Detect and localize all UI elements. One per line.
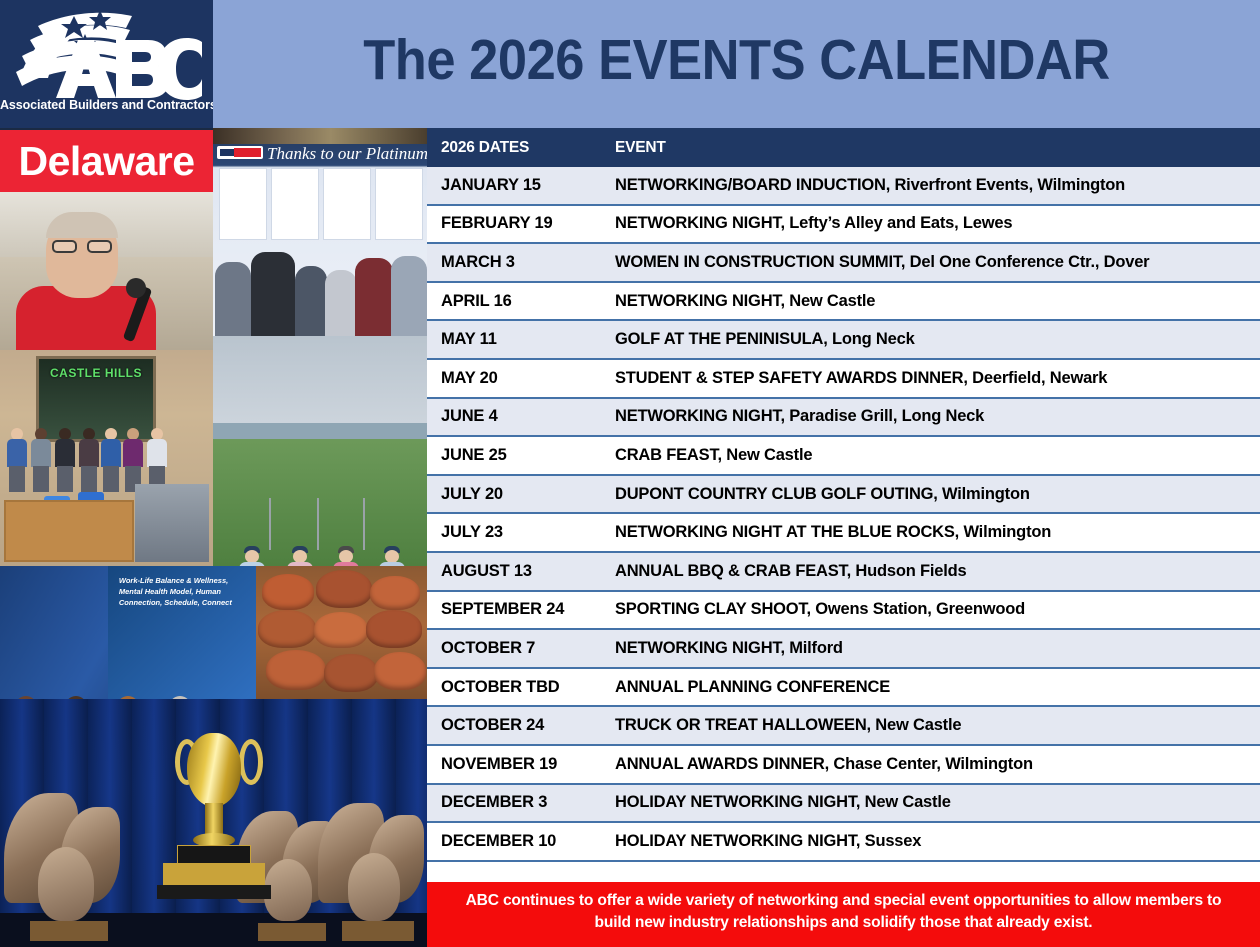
women-panel-photo: Work-Life Balance & Wellness, Mental Hea…: [0, 566, 256, 699]
event-description: CRAB FEAST, New Castle: [615, 446, 1260, 465]
abc-delaware-chip-icon: [217, 146, 263, 159]
event-date: NOVEMBER 19: [441, 755, 615, 774]
sponsor-banner-caption: Thanks to our Platinum Sponsors: [267, 144, 427, 164]
crab-icon: [266, 650, 326, 690]
table-header-row: 2026 DATES EVENT: [427, 128, 1260, 167]
sponsor-card: [271, 168, 319, 240]
event-date: SEPTEMBER 24: [441, 600, 615, 619]
crab-icon: [324, 654, 378, 692]
footer-message-banner: ABC continues to offer a wide variety of…: [427, 882, 1260, 947]
table-row[interactable]: SEPTEMBER 24SPORTING CLAY SHOOT, Owens S…: [427, 592, 1260, 631]
table-row[interactable]: JUNE 4NETWORKING NIGHT, Paradise Grill, …: [427, 399, 1260, 438]
event-description: HOLIDAY NETWORKING NIGHT, New Castle: [615, 793, 1260, 812]
abc-logo-tagline: Associated Builders and Contractors: [0, 98, 213, 112]
event-date: DECEMBER 3: [441, 793, 615, 812]
event-description: DUPONT COUNTRY CLUB GOLF OUTING, Wilming…: [615, 485, 1260, 504]
table-row[interactable]: OCTOBER 7NETWORKING NIGHT, Milford: [427, 630, 1260, 669]
table-row[interactable]: MAY 11GOLF AT THE PENINISULA, Long Neck: [427, 321, 1260, 360]
page-title: The 2026 EVENTS CALENDAR: [255, 0, 1218, 128]
sponsor-card: [323, 168, 371, 240]
event-date: MAY 20: [441, 369, 615, 388]
event-date: AUGUST 13: [441, 562, 615, 581]
table-row[interactable]: OCTOBER TBDANNUAL PLANNING CONFERENCE: [427, 669, 1260, 708]
abc-logo: Associated Builders and Contractors ®: [0, 0, 213, 128]
event-description: SPORTING CLAY SHOOT, Owens Station, Gree…: [615, 600, 1260, 619]
event-description: GOLF AT THE PENINISULA, Long Neck: [615, 330, 1260, 349]
event-description: NETWORKING NIGHT, New Castle: [615, 292, 1260, 311]
abc-logo-mark: [8, 6, 206, 102]
crab-feast-photo: [256, 566, 427, 699]
person-figure: [251, 252, 295, 336]
person-figure: [355, 258, 393, 336]
table-row[interactable]: DECEMBER 3HOLIDAY NETWORKING NIGHT, New …: [427, 785, 1260, 824]
supply-cart: [135, 484, 209, 562]
event-date: APRIL 16: [441, 292, 615, 311]
event-date: OCTOBER TBD: [441, 678, 615, 697]
sponsor-logo-row: [213, 168, 427, 240]
event-date: JULY 23: [441, 523, 615, 542]
event-date: FEBRUARY 19: [441, 214, 615, 233]
event-date: JANUARY 15: [441, 176, 615, 195]
awards-trophy-photo: [0, 699, 427, 947]
table-row[interactable]: APRIL 16NETWORKING NIGHT, New Castle: [427, 283, 1260, 322]
golf-club-icon: [363, 498, 365, 550]
event-description: NETWORKING NIGHT AT THE BLUE ROCKS, Wilm…: [615, 523, 1260, 542]
table-row[interactable]: MARCH 3WOMEN IN CONSTRUCTION SUMMIT, Del…: [427, 244, 1260, 283]
crab-icon: [314, 612, 368, 648]
golf-club-icon: [269, 498, 271, 550]
table-row[interactable]: JUNE 25CRAB FEAST, New Castle: [427, 437, 1260, 476]
crab-icon: [366, 610, 422, 648]
event-date: JUNE 4: [441, 407, 615, 426]
event-date: JUNE 25: [441, 446, 615, 465]
event-date: DECEMBER 10: [441, 832, 615, 851]
table-row[interactable]: AUGUST 13ANNUAL BBQ & CRAB FEAST, Hudson…: [427, 553, 1260, 592]
table-row[interactable]: MAY 20STUDENT & STEP SAFETY AWARDS DINNE…: [427, 360, 1260, 399]
event-description: WOMEN IN CONSTRUCTION SUMMIT, Del One Co…: [615, 253, 1260, 272]
event-description: STUDENT & STEP SAFETY AWARDS DINNER, Dee…: [615, 369, 1260, 388]
event-description: ANNUAL BBQ & CRAB FEAST, Hudson Fields: [615, 562, 1260, 581]
event-description: ANNUAL AWARDS DINNER, Chase Center, Wilm…: [615, 755, 1260, 774]
event-description: HOLIDAY NETWORKING NIGHT, Sussex: [615, 832, 1260, 851]
table-row[interactable]: DECEMBER 10HOLIDAY NETWORKING NIGHT, Sus…: [427, 823, 1260, 862]
person-figure: [215, 262, 251, 336]
sponsor-group-people: [213, 236, 427, 336]
event-description: NETWORKING NIGHT, Paradise Grill, Long N…: [615, 407, 1260, 426]
poster-header-band: Associated Builders and Contractors ® Th…: [0, 0, 1260, 128]
photo-collage: Thanks to our Platinum Sponsors: [0, 128, 427, 947]
crab-icon: [258, 610, 316, 648]
event-date: MARCH 3: [441, 253, 615, 272]
column-header-dates: 2026 DATES: [441, 139, 615, 157]
golf-club-icon: [317, 498, 319, 550]
chapter-badge-delaware: Delaware: [0, 130, 213, 192]
banner-top-strip: [213, 128, 427, 144]
person-figure: [325, 270, 357, 336]
donation-box: [4, 500, 134, 562]
sponsor-banner-photo: Thanks to our Platinum Sponsors: [213, 128, 427, 336]
crab-icon: [370, 576, 420, 610]
event-date: OCTOBER 24: [441, 716, 615, 735]
presentation-screen-text: Work-Life Balance & Wellness, Mental Hea…: [119, 576, 252, 609]
eyeglasses-icon: [52, 240, 112, 253]
speaker-microphone-photo: [0, 190, 213, 350]
person-figure: [391, 256, 427, 336]
crab-icon: [316, 570, 372, 608]
photo-horizon: [213, 423, 427, 439]
sponsor-card: [219, 168, 267, 240]
table-row[interactable]: NOVEMBER 19ANNUAL AWARDS DINNER, Chase C…: [427, 746, 1260, 785]
event-date: MAY 11: [441, 330, 615, 349]
castle-hills-donation-photo: CASTLE HILLS: [0, 350, 213, 566]
table-row[interactable]: JULY 20DUPONT COUNTRY CLUB GOLF OUTING, …: [427, 476, 1260, 515]
table-row[interactable]: JULY 23NETWORKING NIGHT AT THE BLUE ROCK…: [427, 514, 1260, 553]
microphone-head-icon: [126, 278, 146, 298]
golf-foursome-photo: [213, 336, 427, 566]
castle-hills-sign: CASTLE HILLS: [40, 366, 152, 380]
event-description: TRUCK OR TREAT HALLOWEEN, New Castle: [615, 716, 1260, 735]
table-row[interactable]: JANUARY 15NETWORKING/BOARD INDUCTION, Ri…: [427, 167, 1260, 206]
championship-trophy-icon: [171, 733, 257, 883]
event-description: NETWORKING NIGHT, Lefty’s Alley and Eats…: [615, 214, 1260, 233]
sponsor-card: [375, 168, 423, 240]
event-date: JULY 20: [441, 485, 615, 504]
events-calendar-poster: Associated Builders and Contractors ® Th…: [0, 0, 1260, 947]
event-description: NETWORKING NIGHT, Milford: [615, 639, 1260, 658]
registered-trademark-icon: ®: [194, 86, 201, 96]
crab-icon: [262, 574, 314, 610]
table-row[interactable]: FEBRUARY 19NETWORKING NIGHT, Lefty’s All…: [427, 206, 1260, 245]
table-row[interactable]: OCTOBER 24TRUCK OR TREAT HALLOWEEN, New …: [427, 707, 1260, 746]
event-description: ANNUAL PLANNING CONFERENCE: [615, 678, 1260, 697]
events-table: 2026 DATES EVENT JANUARY 15NETWORKING/BO…: [427, 128, 1260, 882]
person-figure: [295, 266, 327, 336]
crab-icon: [374, 652, 426, 690]
column-header-event: EVENT: [615, 139, 1260, 157]
event-date: OCTOBER 7: [441, 639, 615, 658]
event-description: NETWORKING/BOARD INDUCTION, Riverfront E…: [615, 176, 1260, 195]
